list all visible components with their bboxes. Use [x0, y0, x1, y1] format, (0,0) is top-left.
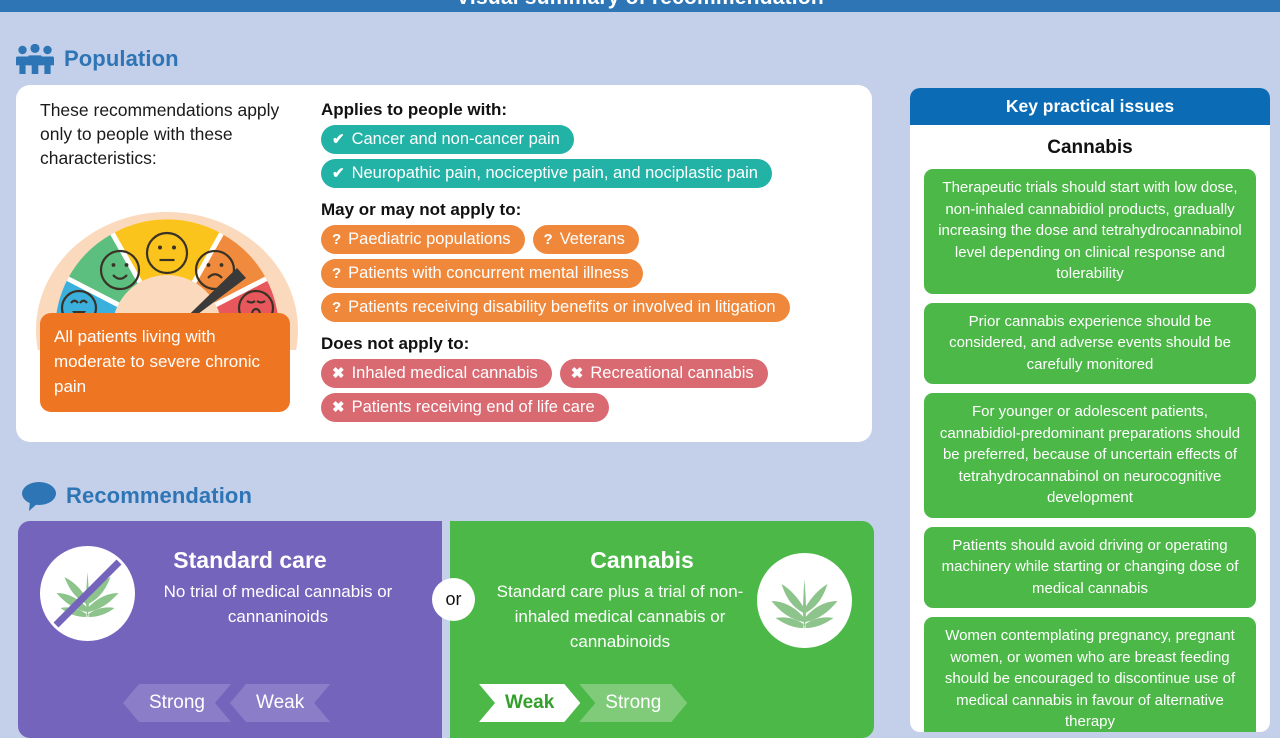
bottom-band [0, 738, 1280, 753]
criteria-row: ✖ Patients receiving end of life care [321, 393, 861, 422]
criteria-pill-label: Patients receiving disability benefits o… [348, 296, 775, 318]
list-item: Prior cannabis experience should be cons… [924, 303, 1256, 385]
key-practical-issues-subheading: Cannabis [910, 137, 1270, 159]
list-item: Women contemplating pregnancy, pregnant … [924, 617, 1256, 732]
criteria-pill-label: Veterans [560, 228, 625, 250]
strength-selector[interactable]: Weak Strong [480, 684, 687, 722]
criteria-pill-label: Paediatric populations [348, 228, 510, 250]
option-cannabis[interactable]: Cannabis Standard care plus a trial of n… [450, 521, 874, 738]
criteria-row: ? Paediatric populations ? Veterans [321, 225, 861, 254]
key-practical-issues-header: Key practical issues [910, 88, 1270, 125]
strength-weak-button[interactable]: Weak [479, 684, 580, 722]
option-title: Standard care [18, 547, 442, 574]
cross-icon: ✖ [332, 366, 345, 381]
criteria-pill: ? Paediatric populations [321, 225, 525, 254]
strength-strong-button[interactable]: Strong [123, 684, 231, 722]
criteria-pill: ? Patients receiving disability benefits… [321, 293, 790, 322]
criteria-row: ? Patients with concurrent mental illnes… [321, 259, 861, 288]
population-section-heading: Population [16, 44, 179, 74]
recommendation-options: Standard care No trial of medical cannab… [18, 521, 874, 738]
recommendation-section-heading: Recommendation [22, 481, 252, 511]
criteria-row: ✔ Cancer and non-cancer pain [321, 125, 861, 154]
strength-weak-button[interactable]: Weak [230, 684, 330, 722]
cross-icon: ✖ [332, 400, 345, 415]
criteria-pill-label: Neuropathic pain, nociceptive pain, and … [352, 162, 758, 184]
header-title: Visual summary of recommendation [0, 0, 1280, 10]
population-card: These recommendations apply only to peop… [16, 85, 872, 442]
question-mark-icon: ? [332, 232, 341, 247]
cross-icon: ✖ [571, 366, 584, 381]
question-mark-icon: ? [332, 266, 341, 281]
criteria-row: ? Patients receiving disability benefits… [321, 293, 861, 322]
question-mark-icon: ? [332, 300, 341, 315]
criteria-row: ✔ Neuropathic pain, nociceptive pain, an… [321, 159, 861, 188]
criteria-pill-label: Recreational cannabis [590, 362, 753, 384]
strength-strong-button[interactable]: Strong [579, 684, 687, 722]
criteria-row: ✖ Inhaled medical cannabis ✖ Recreationa… [321, 359, 861, 388]
population-intro-text: These recommendations apply only to peop… [40, 98, 280, 170]
check-icon: ✔ [332, 166, 345, 181]
key-practical-issues-panel: Key practical issues Cannabis Therapeuti… [910, 88, 1270, 732]
criteria-pill: ? Veterans [533, 225, 639, 254]
criteria-pill: ✖ Inhaled medical cannabis [321, 359, 552, 388]
criteria-title-may-apply: May or may not apply to: [321, 200, 861, 220]
population-heading-label: Population [64, 46, 179, 72]
list-item: For younger or adolescent patients, cann… [924, 393, 1256, 518]
strength-selector[interactable]: Strong Weak [123, 684, 329, 722]
criteria-pill-label: Inhaled medical cannabis [352, 362, 538, 384]
criteria-pill-label: Patients receiving end of life care [352, 396, 595, 418]
criteria-pill: ✔ Neuropathic pain, nociceptive pain, an… [321, 159, 772, 188]
question-mark-icon: ? [544, 232, 553, 247]
criteria-pill: ✔ Cancer and non-cancer pain [321, 125, 574, 154]
infographic-canvas: Visual summary of recommendation Populat… [0, 0, 1280, 753]
key-practical-issues-list: Therapeutic trials should start with low… [910, 169, 1270, 732]
or-divider: or [432, 578, 475, 621]
criteria-title-applies: Applies to people with: [321, 100, 861, 120]
list-item: Therapeutic trials should start with low… [924, 169, 1256, 294]
option-subtitle: Standard care plus a trial of non-inhale… [480, 579, 760, 654]
criteria-pill-label: Cancer and non-cancer pain [352, 128, 560, 150]
criteria-pill: ? Patients with concurrent mental illnes… [321, 259, 643, 288]
option-standard-care[interactable]: Standard care No trial of medical cannab… [18, 521, 442, 738]
list-item: Patients should avoid driving or operati… [924, 527, 1256, 609]
criteria-pill: ✖ Patients receiving end of life care [321, 393, 609, 422]
option-title: Cannabis [450, 547, 874, 574]
recommendation-heading-label: Recommendation [66, 483, 252, 509]
speech-bubble-icon [22, 481, 56, 511]
gauge-caption: All patients living with moderate to sev… [40, 313, 290, 412]
population-criteria: Applies to people with: ✔ Cancer and non… [321, 100, 861, 427]
criteria-title-does-not-apply: Does not apply to: [321, 334, 861, 354]
check-icon: ✔ [332, 132, 345, 147]
criteria-pill-label: Patients with concurrent mental illness [348, 262, 629, 284]
criteria-pill: ✖ Recreational cannabis [560, 359, 768, 388]
people-icon [16, 44, 54, 74]
header-bar: Visual summary of recommendation [0, 0, 1280, 12]
option-subtitle: No trial of medical cannabis or cannanin… [138, 579, 418, 629]
